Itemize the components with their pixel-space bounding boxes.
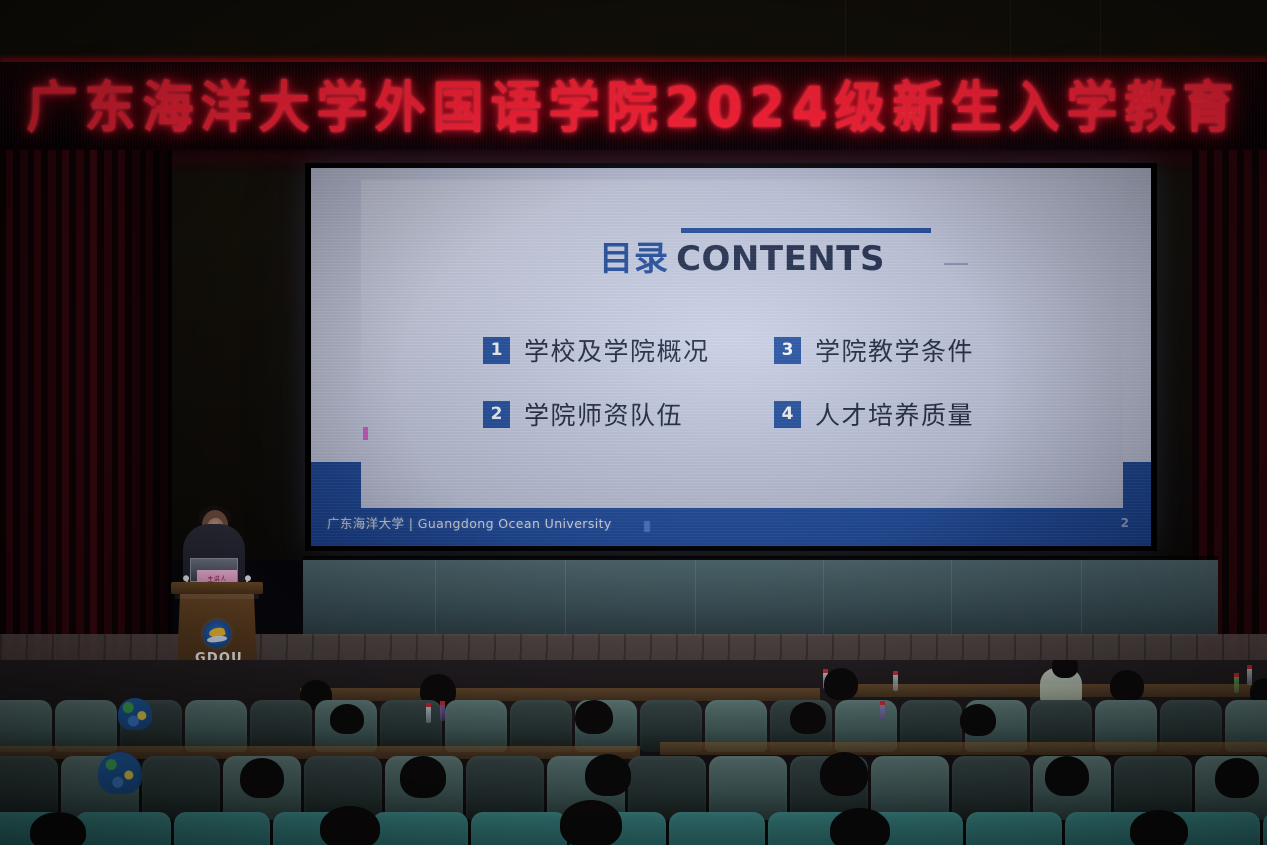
audience-head xyxy=(1215,758,1259,798)
toc-number-badge: 4 xyxy=(774,401,801,428)
seat xyxy=(471,812,567,845)
seat xyxy=(142,756,220,820)
gdou-emblem-icon xyxy=(203,620,231,648)
slide-page-number: 2 xyxy=(1121,516,1129,530)
toc-label: 学校及学院概况 xyxy=(524,332,710,368)
toc-label: 学院教学条件 xyxy=(815,332,974,368)
audience-head xyxy=(575,700,613,734)
auditorium-scene: 广东海洋大学外国语学院2024级新生入学教育 目录CONTENTS 1 学校及学… xyxy=(0,0,1267,845)
led-banner-text: 广东海洋大学外国语学院2024级新生入学教育 xyxy=(0,58,1267,157)
audience-head xyxy=(960,704,996,736)
contents-grid: 1 学校及学院概况 3 学院教学条件 2 学院师资队伍 4 人才培养质量 xyxy=(361,332,1123,432)
seat xyxy=(466,756,544,820)
audience-head xyxy=(240,758,284,798)
footer-glint xyxy=(644,521,650,532)
slide-title-en: CONTENTS xyxy=(676,239,885,279)
list-item[interactable]: 1 学校及学院概况 xyxy=(483,332,774,368)
seat xyxy=(445,700,507,752)
audience-head xyxy=(330,704,364,734)
water-bottle xyxy=(426,706,431,723)
projection-screen: 目录CONTENTS 1 学校及学院概况 3 学院教学条件 2 学院师资队伍 xyxy=(305,163,1157,551)
seat xyxy=(952,756,1030,820)
list-item[interactable]: 2 学院师资队伍 xyxy=(483,396,774,432)
audience-area xyxy=(0,660,1267,845)
audience-head xyxy=(30,812,86,845)
presentation-slide: 目录CONTENTS 1 学校及学院概况 3 学院教学条件 2 学院师资队伍 xyxy=(311,168,1151,546)
audience-head xyxy=(1052,660,1078,678)
seat xyxy=(174,812,270,845)
seat xyxy=(0,756,58,820)
toc-number-badge: 2 xyxy=(483,401,510,428)
water-bottle xyxy=(1247,668,1252,685)
slide-title-cn: 目录 xyxy=(599,239,669,279)
audience-head xyxy=(790,702,826,734)
audience-headscarf xyxy=(98,752,142,794)
seat xyxy=(185,700,247,752)
podium-top xyxy=(171,582,263,594)
podium-edge-band xyxy=(175,594,259,599)
seat xyxy=(709,756,787,820)
seat xyxy=(871,756,949,820)
toc-number-badge: 3 xyxy=(774,337,801,364)
slide-content-panel: 目录CONTENTS 1 学校及学院概况 3 学院教学条件 2 学院师资队伍 xyxy=(361,180,1123,508)
slide-footer: 广东海洋大学 | Guangdong Ocean University xyxy=(327,513,612,532)
list-item[interactable]: 3 学院教学条件 xyxy=(774,332,1065,368)
audience-headscarf xyxy=(118,698,152,730)
slide-title: 目录CONTENTS xyxy=(361,240,1123,279)
stage-lower-wall xyxy=(303,560,1218,636)
audience-head xyxy=(1045,756,1089,796)
water-bottle xyxy=(1234,676,1239,693)
audience-head xyxy=(560,800,622,845)
seat xyxy=(669,812,765,845)
seat xyxy=(966,812,1062,845)
list-item[interactable]: 4 人才培养质量 xyxy=(774,396,1065,432)
seat xyxy=(380,700,442,752)
toc-number-badge: 1 xyxy=(483,337,510,364)
seat xyxy=(372,812,468,845)
audience-head xyxy=(1110,670,1144,702)
seat xyxy=(250,700,312,752)
audience-head xyxy=(824,668,858,700)
water-bottle xyxy=(440,704,445,721)
desk-row xyxy=(660,742,1267,755)
audience-head xyxy=(820,752,868,796)
toc-label: 学院师资队伍 xyxy=(524,396,683,432)
title-rule xyxy=(681,228,931,233)
audience-head xyxy=(1130,810,1188,845)
title-tail-rule xyxy=(944,263,968,265)
audience-head xyxy=(585,754,631,796)
seat xyxy=(510,700,572,752)
toc-label: 人才培养质量 xyxy=(815,396,974,432)
projector-artifact xyxy=(363,427,368,440)
seat xyxy=(0,700,52,752)
seat xyxy=(1263,812,1267,845)
stage-curtain-left xyxy=(0,150,172,710)
seat xyxy=(55,700,117,752)
seat-row xyxy=(0,812,1267,845)
audience-head xyxy=(320,806,380,845)
seat xyxy=(75,812,171,845)
seat xyxy=(628,756,706,820)
audience-head xyxy=(400,756,446,798)
water-bottle xyxy=(880,704,885,721)
audience-head xyxy=(830,808,890,845)
water-bottle xyxy=(893,674,898,691)
